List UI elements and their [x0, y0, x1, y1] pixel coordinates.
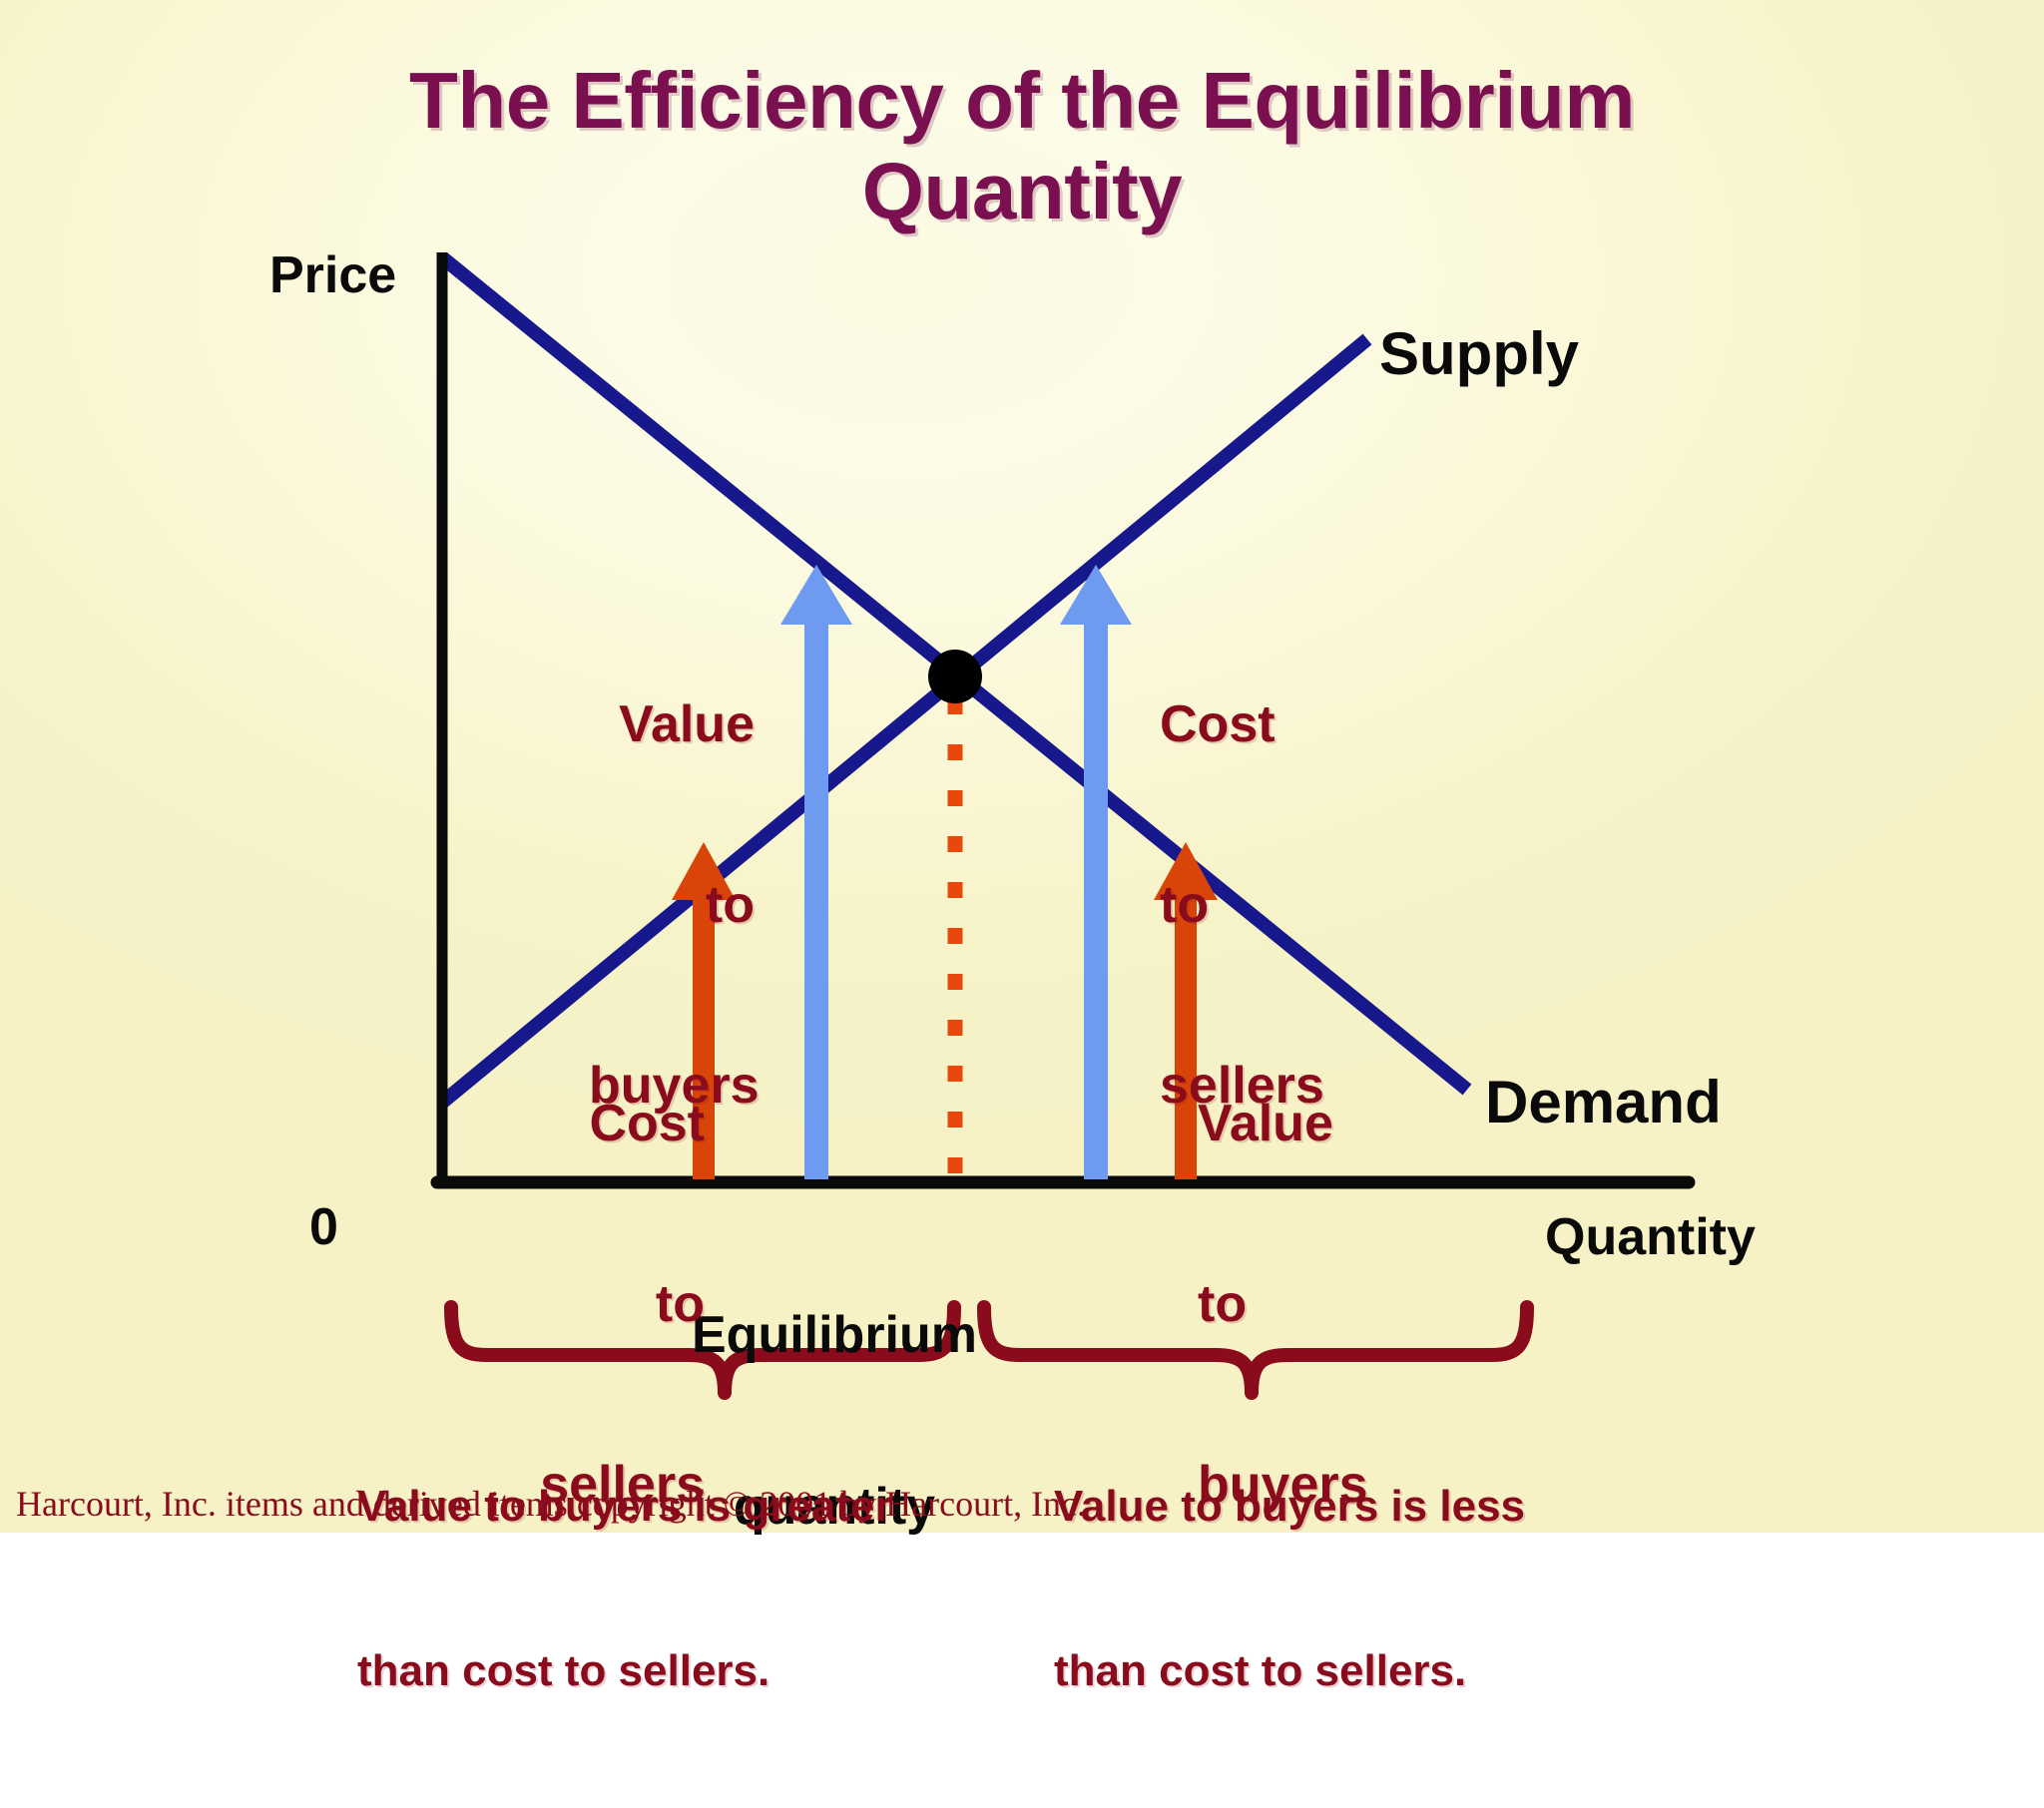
cost-to-sellers-arrow-right: [1060, 565, 1132, 1179]
note-left-line-2: than cost to sellers.: [357, 1643, 996, 1698]
y-axis-label: Price: [269, 245, 396, 305]
annotation-line-1: Value: [589, 694, 755, 754]
note-right-line-1: Value to buyers is less: [1054, 1479, 1673, 1534]
annotation-line-1: Cost: [1160, 694, 1359, 754]
annotation-line-1: Cost: [529, 1094, 705, 1153]
x-axis-label: Quantity: [1545, 1207, 1756, 1267]
value-to-buyers-arrow-left: [780, 565, 852, 1179]
copyright-notice: Harcourt, Inc. items and derived items c…: [16, 1483, 1086, 1525]
annotation-line-2: to: [1160, 875, 1359, 935]
annotation-line-2: to: [1198, 1274, 1397, 1334]
annotation-line-1: Value: [1198, 1094, 1397, 1153]
demand-curve-label: Demand: [1485, 1068, 1722, 1136]
origin-label: 0: [309, 1197, 338, 1257]
slide-root: The Efficiency of the Equilibrium Quanti…: [0, 0, 2044, 1533]
equilibrium-point-dot: [928, 650, 982, 703]
annotation-line-2: to: [529, 1274, 705, 1334]
note-right-line-2: than cost to sellers.: [1054, 1643, 1673, 1698]
note-left: Value to buyers is greater than cost to …: [357, 1369, 996, 1808]
supply-curve-label: Supply: [1379, 319, 1579, 388]
annotation-line-2: to: [589, 875, 755, 935]
note-right: Value to buyers is less than cost to sel…: [1054, 1369, 1673, 1808]
